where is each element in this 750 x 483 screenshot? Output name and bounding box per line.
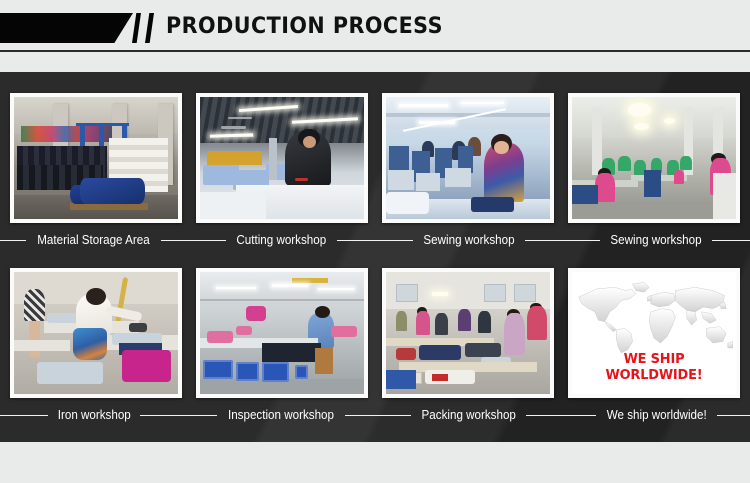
caption-packing-workshop: Packing workshop [375,408,563,422]
photo-inspection-workshop [200,272,364,394]
caption-line [337,240,375,241]
gallery-item-packing-workshop[interactable] [382,268,554,398]
photo-frame: WE SHIP WORLDWIDE! [568,268,740,398]
caption-text: Iron workshop [57,408,130,422]
photo-frame [382,268,554,398]
caption-line [563,240,601,241]
header-divider [0,50,750,52]
world-map-icon [572,279,736,355]
caption-line [712,240,750,241]
caption-we-ship-worldwide: We ship worldwide! [563,408,750,422]
caption-sewing-workshop-1: Sewing workshop [375,233,563,247]
production-process-panel: Material Storage Area Cutting workshop S… [0,72,750,442]
caption-line [717,415,750,416]
gallery-item-sewing-workshop-1[interactable] [382,93,554,223]
gallery-item-cutting-workshop[interactable] [196,93,368,223]
page-header: PRODUCTION PROCESS [0,0,750,52]
caption-line [345,415,375,416]
caption-line [161,240,187,241]
gallery-item-sewing-workshop-2[interactable] [568,93,740,223]
photo-frame [10,268,182,398]
caption-line [188,240,226,241]
caption-line [375,240,413,241]
header-black-bar [0,13,133,43]
photo-frame [568,93,740,223]
caption-material-storage: Material Storage Area [0,233,188,247]
photo-sewing-workshop-closeup [386,97,550,219]
caption-text: Material Storage Area [38,233,150,247]
caption-text: Sewing workshop [611,233,702,247]
we-ship-worldwide-text: WE SHIP WORLDWIDE! [575,351,732,383]
gallery-grid: Material Storage Area Cutting workshop S… [0,72,750,442]
photo-frame [196,268,368,398]
caption-row-2: Iron workshop Inspection workshop Packin… [0,405,750,425]
caption-line [563,415,596,416]
caption-cutting-workshop: Cutting workshop [188,233,376,247]
gallery-item-material-storage[interactable] [10,93,182,223]
page-title: PRODUCTION PROCESS [166,12,443,42]
photo-packing-workshop [386,272,550,394]
photo-sewing-workshop-wide [572,97,736,219]
caption-text: We ship worldwide! [606,408,706,422]
caption-text: Inspection workshop [228,408,334,422]
photo-frame [382,93,554,223]
caption-line [0,415,48,416]
gallery-item-iron-workshop[interactable] [10,268,182,398]
slash-icon [132,13,141,43]
caption-line [0,240,26,241]
photo-cutting-workshop [200,97,364,219]
caption-text: Sewing workshop [423,233,514,247]
photo-frame [196,93,368,223]
caption-iron-workshop: Iron workshop [0,408,188,422]
caption-inspection-workshop: Inspection workshop [188,408,376,422]
caption-line [375,415,411,416]
photo-material-storage-area [14,97,178,219]
caption-line [525,240,563,241]
gallery-item-we-ship-worldwide[interactable]: WE SHIP WORLDWIDE! [568,268,740,398]
caption-line [188,415,218,416]
photo-iron-workshop [14,272,178,394]
caption-text: Packing workshop [422,408,516,422]
slash-icon [145,13,154,43]
caption-line [140,415,188,416]
caption-text: Cutting workshop [236,233,326,247]
gallery-item-inspection-workshop[interactable] [196,268,368,398]
caption-line [526,415,562,416]
photo-frame [10,93,182,223]
caption-sewing-workshop-2: Sewing workshop [563,233,750,247]
photo-world-map: WE SHIP WORLDWIDE! [572,272,736,394]
world-map-graphic [572,279,736,355]
caption-row-1: Material Storage Area Cutting workshop S… [0,230,750,250]
